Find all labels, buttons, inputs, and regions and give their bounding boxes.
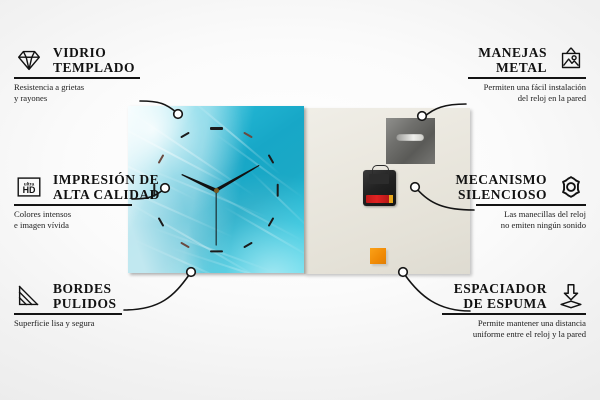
callout-desc-line2: y rayones [14, 93, 142, 105]
callout-header: MECANISMO SILENCIOSO [474, 172, 586, 202]
clock-tick-3 [276, 183, 278, 196]
callout-mecanismo-silencioso: MECANISMO SILENCIOSO Las manecillas del … [474, 172, 586, 232]
callout-header: ESPACIADOR DE ESPUMA [440, 281, 586, 311]
callout-title-line2: METAL [478, 60, 547, 75]
callout-title-line1: VIDRIO [53, 45, 135, 60]
callout-title-line2: DE ESPUMA [454, 296, 547, 311]
aa-battery [366, 195, 393, 203]
callout-desc-line1: Permite mantener una distancia [440, 318, 586, 330]
callout-title-line1: MANEJAS [478, 45, 547, 60]
callout-description: Superficie lisa y segura [14, 318, 124, 330]
callout-desc-line1: Colores intensos [14, 209, 134, 221]
callout-desc-line1: Las manecillas del reloj [474, 209, 586, 221]
callout-desc-line2: del reloj en la pared [466, 93, 586, 105]
callout-title-line1: ESPACIADOR [454, 281, 547, 296]
connector-bordes [124, 275, 189, 310]
callout-title-line2: ALTA CALIDAD [53, 187, 160, 202]
callout-header: BORDES PULIDOS [14, 281, 124, 311]
product-stage [128, 106, 472, 276]
callout-description: Resistencia a grietas y rayones [14, 82, 142, 106]
callout-rule [14, 77, 140, 78]
callout-description: Permiten una fácil instalación del reloj… [466, 82, 586, 106]
callout-desc-line1: Permiten una fácil instalación [466, 82, 586, 94]
ultra-hd-icon: ultra HD [14, 172, 44, 202]
callout-title-line2: PULIDOS [53, 296, 117, 311]
callout-title-line2: TEMPLADO [53, 60, 135, 75]
diamond-icon [14, 45, 44, 75]
product-infographic: VIDRIO TEMPLADO Resistencia a grietas y … [0, 0, 600, 400]
callout-desc-line2: no emiten ningún sonido [474, 220, 586, 232]
foam-spacer-pad [370, 248, 386, 264]
callout-description: Las manecillas del reloj no emiten ningú… [474, 209, 586, 233]
clock-back-panel [304, 108, 470, 274]
battery-positive-tip [389, 195, 393, 203]
callout-rule [14, 204, 132, 205]
callout-title-line1: MECANISMO [456, 172, 548, 187]
callout-title: IMPRESIÓN DE ALTA CALIDAD [53, 172, 160, 202]
callout-manejas-metal: MANEJAS METAL Permiten una fácil instala… [466, 45, 586, 105]
callout-impresion-alta-calidad: ultra HD IMPRESIÓN DE ALTA CALIDAD Color… [14, 172, 134, 232]
movement-hanging-loop [372, 165, 389, 174]
callout-title: MECANISMO SILENCIOSO [456, 172, 548, 202]
clock-movement [363, 170, 396, 206]
callout-header: VIDRIO TEMPLADO [14, 45, 142, 75]
callout-desc-line1: Resistencia a grietas [14, 82, 142, 94]
clock-second-hand [215, 190, 216, 246]
callout-title: MANEJAS METAL [478, 45, 547, 75]
callout-desc-line2: uniforme entre el reloj y la pared [440, 329, 586, 341]
callout-header: MANEJAS METAL [466, 45, 586, 75]
callout-description: Colores intensos e imagen vívida [14, 209, 134, 233]
callout-desc-line2: e imagen vívida [14, 220, 134, 232]
callout-title-line1: BORDES [53, 281, 117, 296]
gear-icon [556, 172, 586, 202]
callout-vidrio-templado: VIDRIO TEMPLADO Resistencia a grietas y … [14, 45, 142, 105]
metal-hanger-plate [386, 118, 435, 164]
callout-title: VIDRIO TEMPLADO [53, 45, 135, 75]
callout-bordes-pulidos: BORDES PULIDOS Superficie lisa y segura [14, 281, 124, 329]
foam-spacer-icon [556, 281, 586, 311]
clock-center-cap [214, 188, 219, 193]
callout-title: ESPACIADOR DE ESPUMA [454, 281, 547, 311]
picture-hanger-icon [556, 45, 586, 75]
callout-header: ultra HD IMPRESIÓN DE ALTA CALIDAD [14, 172, 134, 202]
callout-description: Permite mantener una distancia uniforme … [440, 318, 586, 342]
callout-title: BORDES PULIDOS [53, 281, 117, 311]
clock-tick-6 [210, 250, 223, 252]
polished-edges-icon [14, 281, 44, 311]
hanger-slot [396, 134, 424, 141]
movement-housing-notch [369, 174, 389, 184]
callout-espaciador-espuma: ESPACIADOR DE ESPUMA Permite mantener un… [440, 281, 586, 341]
callout-rule [468, 77, 586, 78]
callout-rule [14, 313, 122, 314]
callout-title-line1: IMPRESIÓN DE [53, 172, 160, 187]
callout-desc-line1: Superficie lisa y segura [14, 318, 124, 330]
ultra-hd-icon-large-label: HD [23, 185, 36, 195]
callout-title-line2: SILENCIOSO [456, 187, 548, 202]
callout-rule [442, 313, 586, 314]
callout-rule [476, 204, 586, 205]
